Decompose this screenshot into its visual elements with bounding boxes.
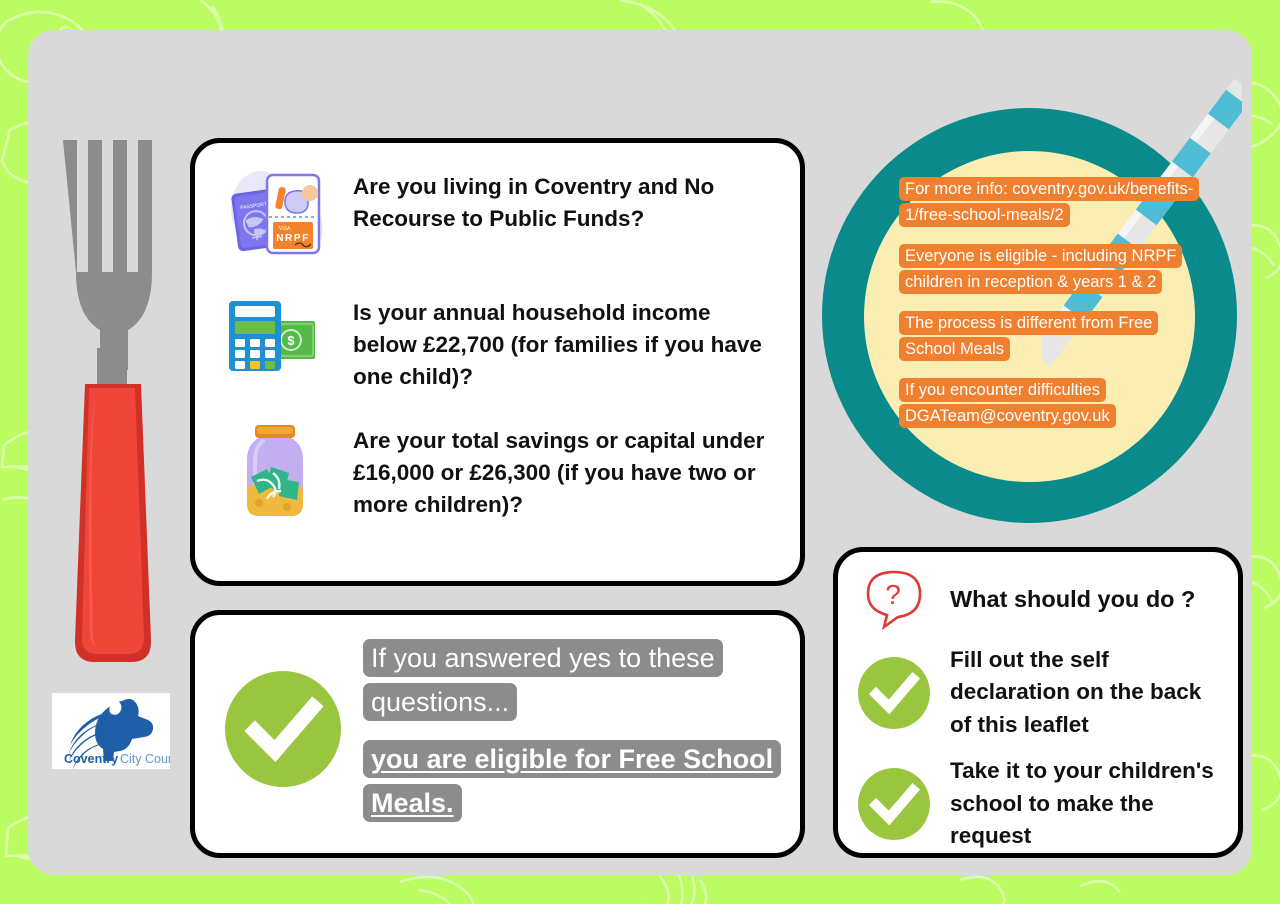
what-to-do-card: ? What should you do ? Fill out the self… <box>833 547 1243 858</box>
eligible-line-2-wrap: you are eligible for Free School Meals. <box>363 738 780 825</box>
todo-item: Take it to your children's school to mak… <box>854 755 1220 852</box>
eligibility-result-card: If you answered yes to these questions..… <box>190 610 805 858</box>
logo-name-bold: Coventry <box>64 752 118 766</box>
question-speech-bubble-icon: ? <box>854 568 934 630</box>
info-text: The process is different from Free Schoo… <box>899 311 1158 361</box>
info-text-list: For more info: coventry.gov.uk/benefits-… <box>899 176 1204 430</box>
info-text: Everyone is eligible - including NRPF ch… <box>899 244 1182 294</box>
todo-item: Fill out the self declaration on the bac… <box>854 644 1220 741</box>
calculator-money-icon: $ <box>221 293 329 377</box>
savings-jar-icon <box>221 421 329 521</box>
question-row: PASSPORT VISA NRPF Are you living in Cov… <box>195 167 800 267</box>
coventry-city-council-logo: Coventry City Council <box>52 693 170 769</box>
fork-illustration <box>55 132 173 682</box>
info-block: The process is different from Free Schoo… <box>899 310 1204 362</box>
logo-name-light: City Council <box>120 752 170 766</box>
question-row: $ Is your annual household income below … <box>195 293 800 393</box>
green-check-circle-icon <box>221 667 345 796</box>
question-text: Are your total savings or capital under … <box>353 421 774 521</box>
question-row: Are your total savings or capital under … <box>195 421 800 521</box>
info-block: Everyone is eligible - including NRPF ch… <box>899 243 1204 295</box>
eligibility-questions-card: PASSPORT VISA NRPF Are you living in Cov… <box>190 138 805 586</box>
eligible-line-1: If you answered yes to these questions..… <box>363 639 723 721</box>
visa-label: VISA <box>279 226 291 232</box>
svg-text:?: ? <box>885 579 901 610</box>
todo-heading: What should you do ? <box>950 586 1195 613</box>
todo-item-text: Fill out the self declaration on the bac… <box>950 644 1220 741</box>
info-text: If you encounter difficulties DGATeam@co… <box>899 378 1116 428</box>
eligible-line-2: you are eligible for Free School Meals. <box>363 740 781 822</box>
nrpf-stamp-label: NRPF <box>276 233 310 244</box>
passport-nrpf-icon: PASSPORT VISA NRPF <box>221 167 329 267</box>
info-text: For more info: coventry.gov.uk/benefits-… <box>899 177 1199 227</box>
question-text: Is your annual household income below £2… <box>353 293 774 393</box>
eligible-line-1-wrap: If you answered yes to these questions..… <box>363 637 780 724</box>
green-check-circle-icon <box>854 654 934 732</box>
info-circle-section: For more info: coventry.gov.uk/benefits-… <box>822 108 1240 528</box>
question-text: Are you living in Coventry and No Recour… <box>353 167 774 235</box>
info-block: For more info: coventry.gov.uk/benefits-… <box>899 176 1204 228</box>
todo-heading-row: ? What should you do ? <box>854 568 1220 630</box>
green-check-circle-icon <box>854 765 934 843</box>
info-block: If you encounter difficulties DGATeam@co… <box>899 377 1204 429</box>
todo-item-text: Take it to your children's school to mak… <box>950 755 1220 852</box>
svg-text:$: $ <box>287 333 295 348</box>
